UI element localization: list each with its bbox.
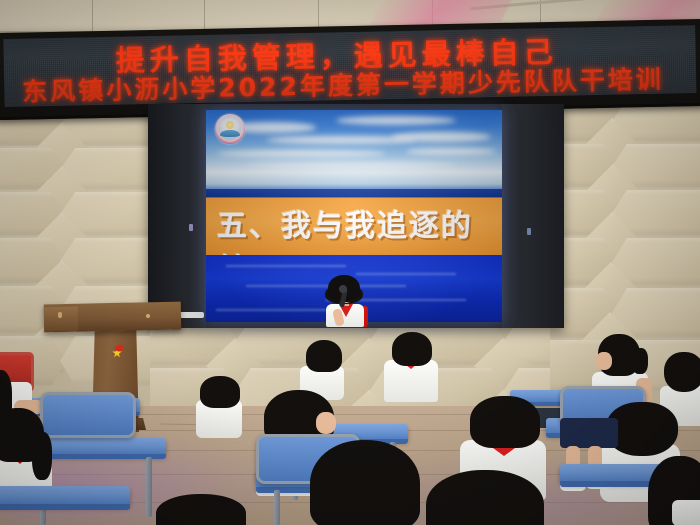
slide-horizon — [206, 189, 502, 197]
student-presenter — [315, 275, 373, 327]
wall-switch-left — [189, 224, 193, 231]
screen-bezel-right — [502, 104, 564, 328]
microphone-head — [339, 285, 347, 293]
classroom-photo: 提升自我管理，遇见最棒自己 东风镇小沥小学2022年度第一学期少先队队干培训 五… — [0, 0, 700, 525]
screen-bezel-left — [148, 104, 206, 328]
slide-title-band: 五、我与我追逐的梦 — [206, 197, 502, 256]
slide-sky — [206, 110, 502, 194]
young-pioneers-star-icon — [111, 345, 123, 357]
led-screen: 提升自我管理，遇见最棒自己 东风镇小沥小学2022年度第一学期少先队队干培训 — [3, 25, 696, 107]
school-emblem-icon — [215, 114, 245, 144]
wall-switch-right — [527, 228, 531, 235]
